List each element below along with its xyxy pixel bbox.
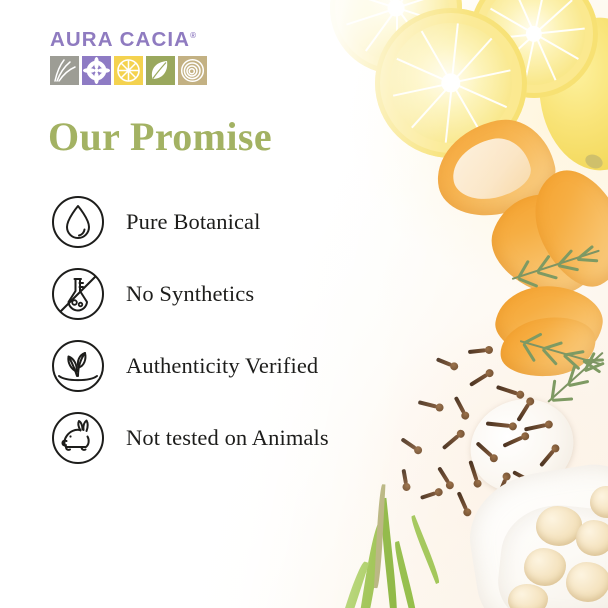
page-title: Our Promise [48,117,272,157]
promise-item: Not tested on Animals [50,402,329,474]
citrus-slice-tile [114,56,143,85]
promise-card: AURA CACIA® [0,0,608,608]
leaf-icon [146,56,175,85]
promise-item: Authenticity Verified [50,330,329,402]
brand-wordmark: AURA CACIA® [50,30,207,51]
promise-label: Not tested on Animals [126,425,329,451]
brand-logo[interactable]: AURA CACIA® [50,30,207,85]
promise-label: Authenticity Verified [126,353,318,379]
content-layer: AURA CACIA® [0,0,608,608]
flower-icon [82,56,111,85]
seedling-sprout-icon [50,338,106,394]
tree-rings-icon [178,56,207,85]
tree-rings-tile [178,56,207,85]
promise-list: Pure Botanical [50,186,329,474]
rabbit-cruelty-free-icon [50,410,106,466]
flower-tile [82,56,111,85]
water-droplet-icon [50,194,106,250]
grass-reed-icon [50,56,79,85]
brand-icon-tiles [50,56,207,85]
promise-item: Pure Botanical [50,186,329,258]
promise-label: No Synthetics [126,281,254,307]
grass-reed-tile [50,56,79,85]
leaf-tile [146,56,175,85]
promise-item: No Synthetics [50,258,329,330]
promise-label: Pure Botanical [126,209,261,235]
no-synthetics-flask-icon [50,266,106,322]
brand-wordmark-text: AURA CACIA [50,28,190,51]
registered-trademark-symbol: ® [190,31,196,40]
citrus-slice-icon [114,56,143,85]
